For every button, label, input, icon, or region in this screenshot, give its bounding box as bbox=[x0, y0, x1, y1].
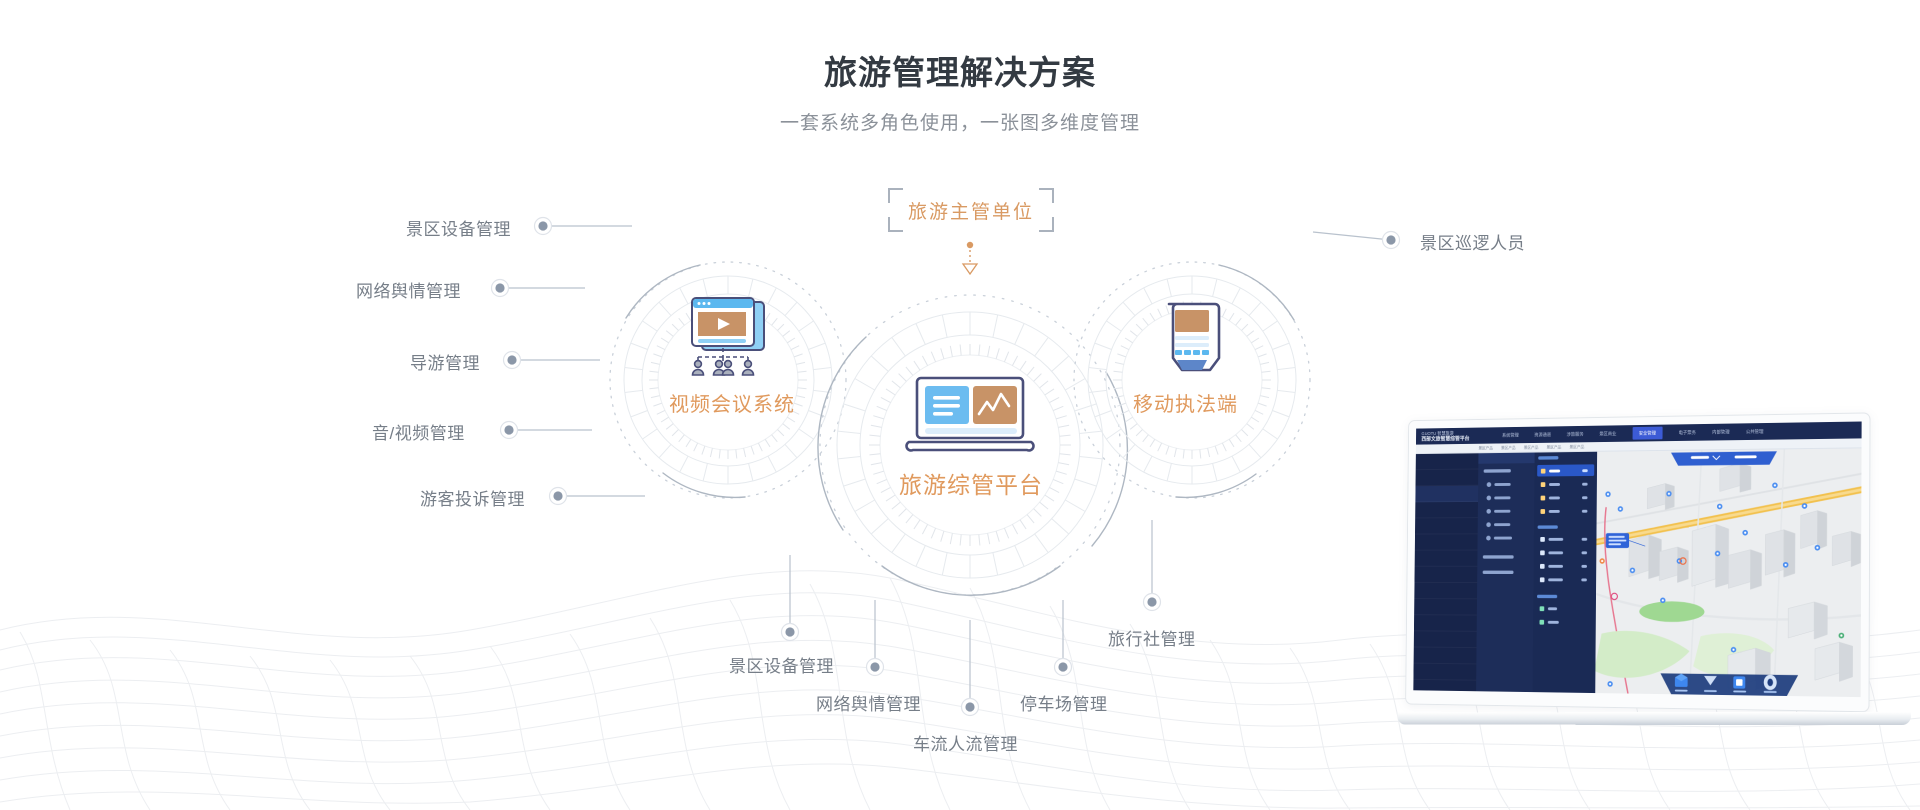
solution-diagram-page: 旅游管理解决方案 一套系统多角色使用，一张图多维度管理 bbox=[0, 0, 1920, 810]
badge-corner-br bbox=[1039, 217, 1054, 232]
list-panel-items[interactable] bbox=[1532, 452, 1597, 697]
node-label-bottom-0[interactable]: 景区设备管理 bbox=[729, 652, 834, 677]
dashboard-app: GUOTU 智慧旅游 西部文旅智慧综管平台 系统管理 资源通道 涉旅服务 景区商… bbox=[1413, 421, 1861, 697]
node-label-bottom-4[interactable]: 旅行社管理 bbox=[1108, 625, 1196, 650]
badge-connector bbox=[963, 242, 977, 274]
tab-0[interactable]: 景区产品 bbox=[1478, 445, 1492, 451]
sidebar-item-13[interactable] bbox=[1413, 664, 1476, 681]
circle-caption-video-conference: 视频会议系统 bbox=[669, 388, 795, 417]
tab-2[interactable]: 景区产品 bbox=[1524, 444, 1539, 450]
handheld-device-icon bbox=[1161, 300, 1223, 384]
laptop-mockup: GUOTU 智慧旅游 西部文旅智慧综管平台 系统管理 资源通道 涉旅服务 景区商… bbox=[1365, 412, 1910, 752]
badge-tourism-authority[interactable]: 旅游主管单位 bbox=[888, 188, 1054, 232]
circle-caption-mobile-enforcement: 移动执法端 bbox=[1133, 388, 1238, 417]
map-canvas[interactable] bbox=[1595, 448, 1861, 697]
laptop-lid: GUOTU 智慧旅游 西部文旅智慧综管平台 系统管理 资源通道 涉旅服务 景区商… bbox=[1405, 412, 1870, 712]
tab-3[interactable]: 景区产品 bbox=[1547, 444, 1562, 450]
sidebar-item-11[interactable] bbox=[1414, 631, 1477, 648]
page-title: 旅游管理解决方案 bbox=[0, 46, 1920, 94]
brand-main: 西部文旅智慧综管平台 bbox=[1421, 435, 1493, 442]
left-connectors bbox=[492, 218, 646, 505]
menu-item-0[interactable]: 系统管理 bbox=[1502, 432, 1519, 438]
sidebar-item-0[interactable] bbox=[1416, 453, 1479, 470]
sidebar-item-6[interactable] bbox=[1415, 551, 1478, 567]
sidebar-item-5[interactable] bbox=[1415, 534, 1478, 550]
dashboard-menu[interactable]: 系统管理 资源通道 涉旅服务 景区商业 安全管理 电子票务 内部管理 公共管理 bbox=[1493, 425, 1764, 442]
badge-corner-tl bbox=[888, 188, 903, 203]
bottom-connectors bbox=[782, 520, 1161, 716]
sidebar-item-4[interactable] bbox=[1415, 518, 1478, 534]
dashboard-sidebar[interactable] bbox=[1413, 453, 1478, 691]
dashboard-tree-panel[interactable] bbox=[1476, 453, 1535, 693]
menu-item-5[interactable]: 电子票务 bbox=[1679, 429, 1696, 435]
right-connectors bbox=[1313, 232, 1400, 249]
dashboard-map-view[interactable] bbox=[1595, 448, 1861, 697]
sidebar-item-9[interactable] bbox=[1414, 599, 1477, 616]
tab-4[interactable]: 景区产品 bbox=[1569, 444, 1584, 450]
node-label-bottom-3[interactable]: 停车场管理 bbox=[1020, 690, 1108, 715]
sidebar-item-1[interactable] bbox=[1416, 469, 1479, 486]
dashboard-logo: GUOTU 智慧旅游 西部文旅智慧综管平台 bbox=[1416, 430, 1493, 443]
node-label-right-0[interactable]: 景区巡逻人员 bbox=[1420, 229, 1525, 254]
sidebar-item-7[interactable] bbox=[1414, 567, 1477, 583]
tree-panel-items[interactable] bbox=[1476, 463, 1535, 697]
video-window-icon bbox=[676, 296, 782, 376]
node-label-left-1[interactable]: 网络舆情管理 bbox=[356, 277, 461, 302]
menu-item-1[interactable]: 资源通道 bbox=[1534, 432, 1551, 438]
sidebar-item-8[interactable] bbox=[1414, 583, 1477, 599]
node-label-left-0[interactable]: 景区设备管理 bbox=[406, 215, 511, 240]
node-label-left-3[interactable]: 音/视频管理 bbox=[372, 419, 465, 444]
menu-item-2[interactable]: 涉旅服务 bbox=[1567, 431, 1584, 437]
menu-item-7[interactable]: 公共管理 bbox=[1746, 428, 1764, 434]
menu-item-4-active[interactable]: 安全管理 bbox=[1632, 427, 1662, 440]
badge-corner-tr bbox=[1039, 188, 1054, 203]
laptop-screen: GUOTU 智慧旅游 西部文旅智慧综管平台 系统管理 资源通道 涉旅服务 景区商… bbox=[1413, 421, 1861, 697]
sidebar-item-10[interactable] bbox=[1414, 615, 1477, 632]
circle-caption-tourism-platform: 旅游综管平台 bbox=[899, 466, 1043, 500]
sidebar-item-12[interactable] bbox=[1414, 647, 1477, 664]
brand-top: GUOTU 智慧旅游 bbox=[1421, 430, 1453, 435]
node-label-bottom-1[interactable]: 网络舆情管理 bbox=[816, 690, 921, 715]
node-label-left-4[interactable]: 游客投诉管理 bbox=[420, 485, 525, 510]
tree-panel-header bbox=[1478, 453, 1534, 464]
menu-item-6[interactable]: 内部管理 bbox=[1712, 429, 1730, 435]
tab-1[interactable]: 景区产品 bbox=[1501, 445, 1516, 451]
menu-item-3[interactable]: 景区商业 bbox=[1599, 431, 1616, 437]
dashboard-list-panel[interactable] bbox=[1533, 452, 1598, 693]
node-label-left-2[interactable]: 导游管理 bbox=[410, 349, 480, 374]
sidebar-item-3[interactable] bbox=[1415, 502, 1478, 519]
laptop-base bbox=[1397, 712, 1911, 725]
laptop-dashboard-icon bbox=[903, 376, 1037, 454]
page-subtitle: 一套系统多角色使用，一张图多维度管理 bbox=[0, 108, 1920, 135]
badge-corner-bl bbox=[888, 217, 903, 232]
node-label-bottom-2[interactable]: 车流人流管理 bbox=[913, 730, 1018, 755]
badge-label: 旅游主管单位 bbox=[908, 197, 1034, 224]
sidebar-item-2-selected[interactable] bbox=[1415, 486, 1478, 503]
